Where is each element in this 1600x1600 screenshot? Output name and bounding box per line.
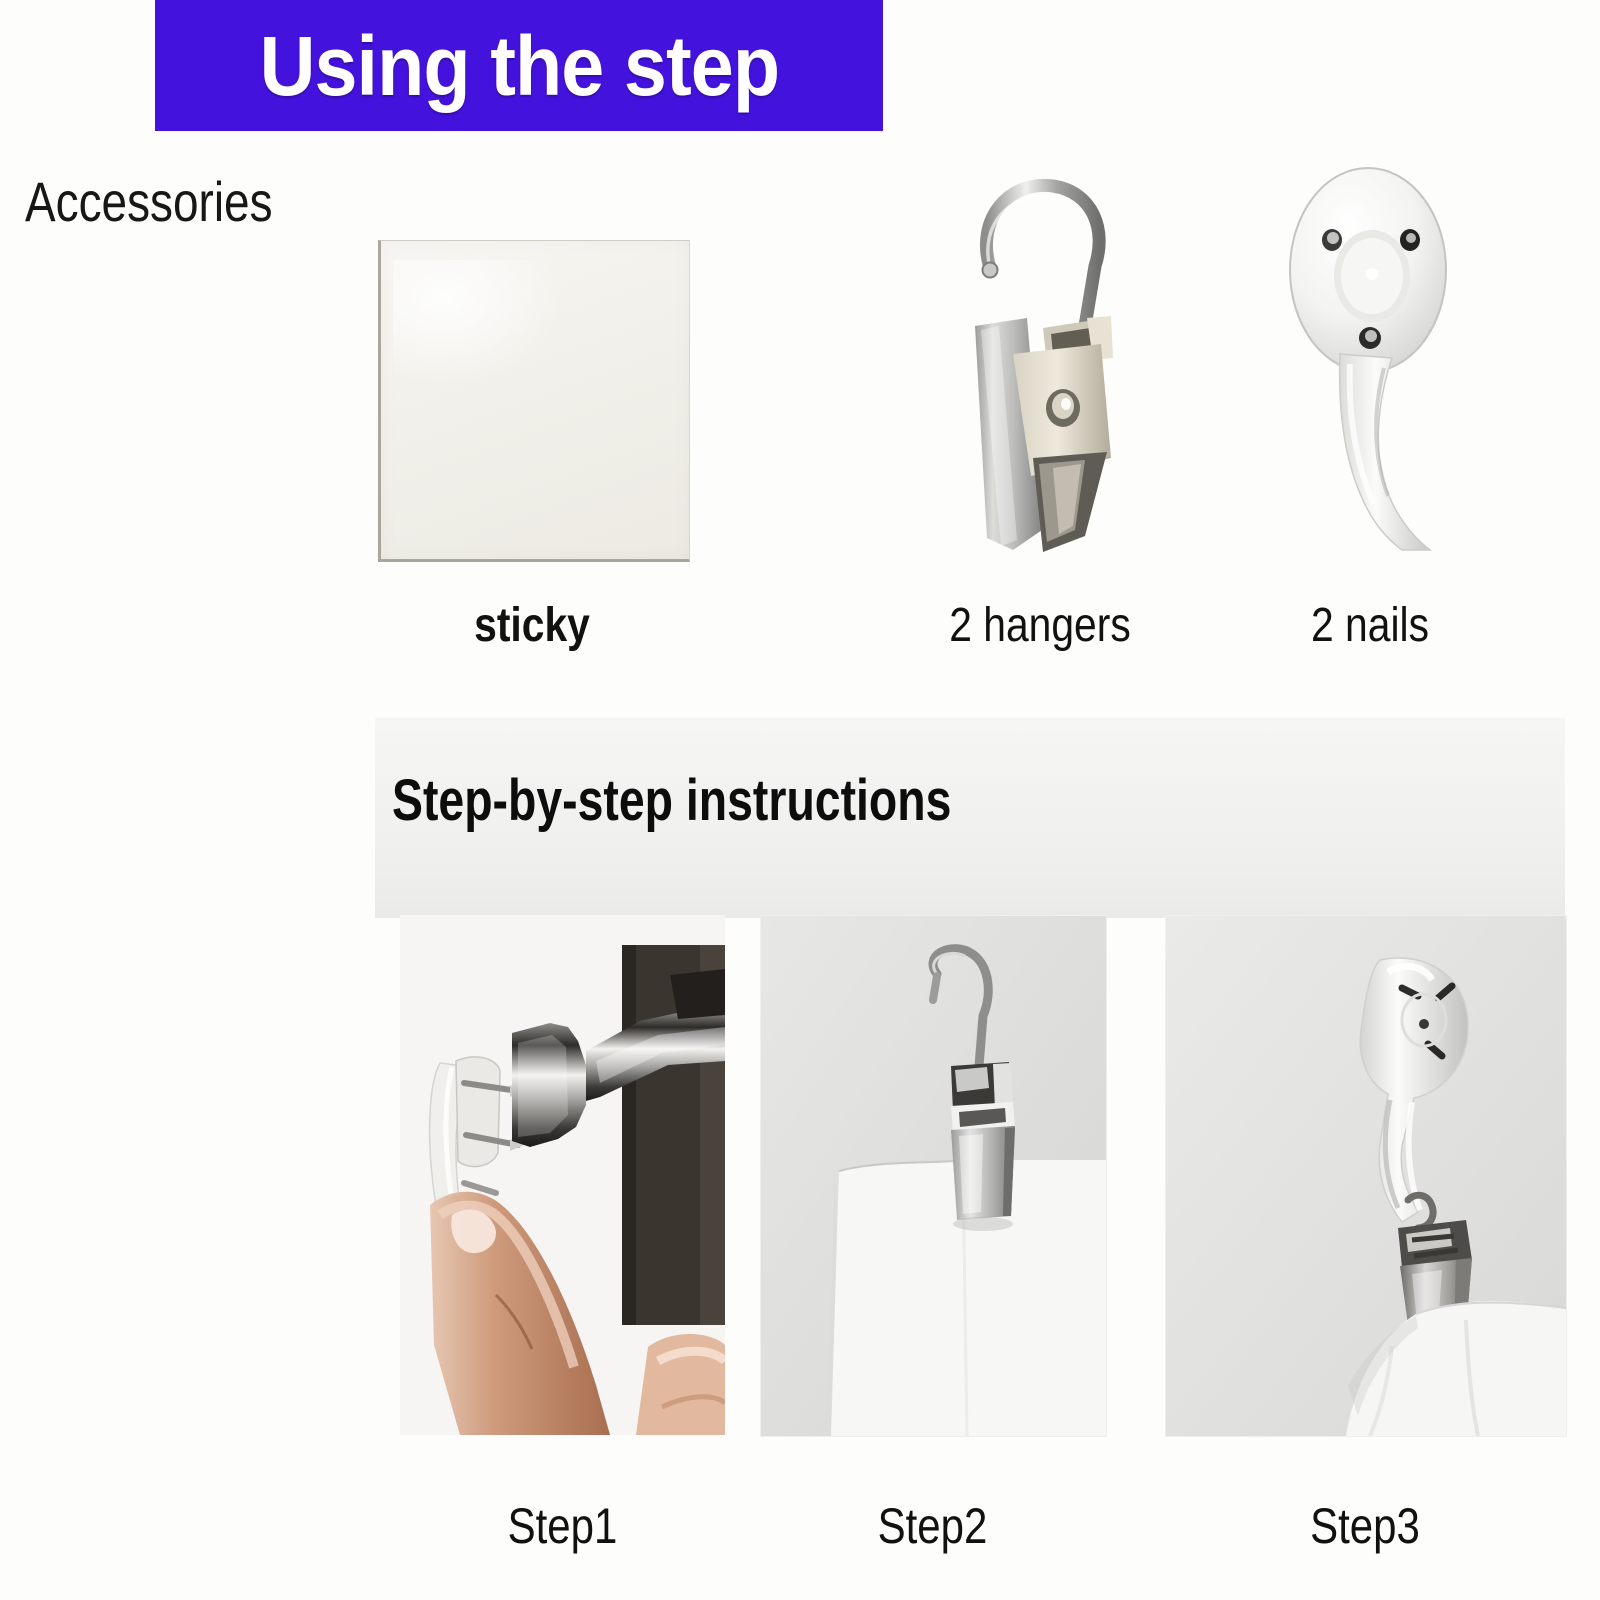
instructions-heading: Step-by-step instructions [392, 770, 951, 832]
step-label-3: Step3 [1197, 1498, 1533, 1554]
step-label-1: Step1 [426, 1498, 699, 1554]
accessory-label-sticky: sticky [401, 600, 663, 652]
accessory-label-hangers: 2 hangers [925, 600, 1155, 652]
step-image-1 [400, 915, 725, 1435]
title-banner: Using the step [155, 0, 883, 131]
banner-title: Using the step [259, 24, 779, 108]
step-label-2: Step2 [788, 1498, 1078, 1554]
wall-hook-icon [1280, 158, 1460, 558]
infographic-page: Using the step Accessories sticky [0, 0, 1600, 1600]
step-image-2 [760, 915, 1107, 1437]
step-image-3 [1165, 915, 1567, 1437]
hook-clip-icon [935, 158, 1145, 558]
accessories-heading: Accessories [25, 172, 273, 232]
accessory-label-nails: 2 nails [1260, 600, 1481, 652]
adhesive-pad-icon [378, 240, 690, 562]
